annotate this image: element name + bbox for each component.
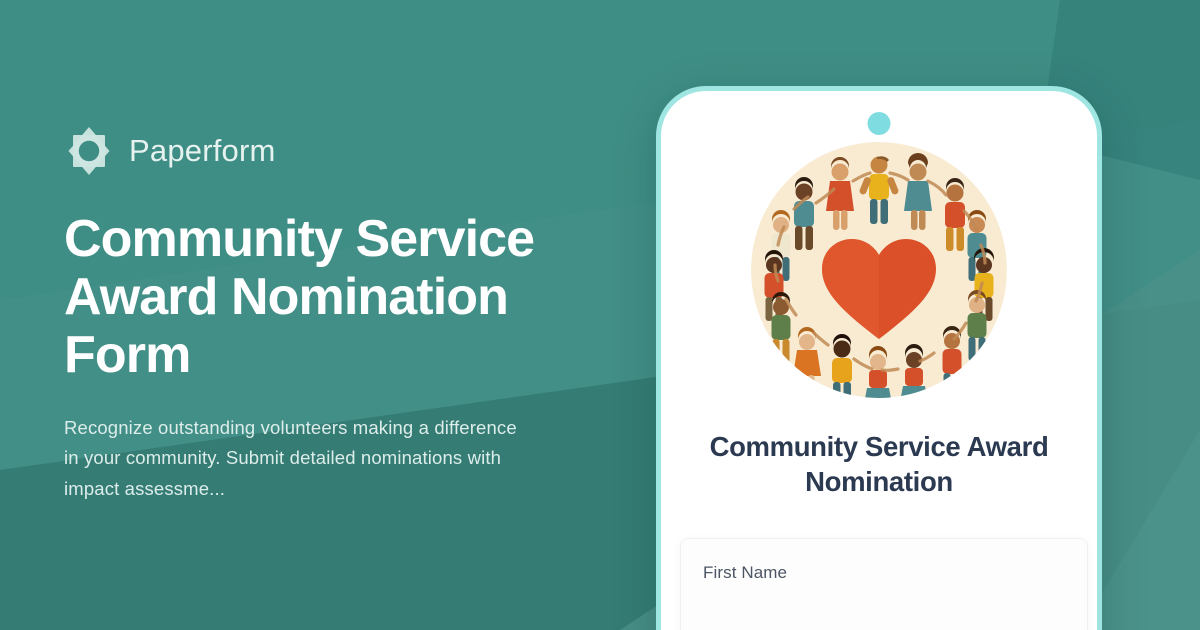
form-heading: Community Service Award Nomination [661,429,1097,499]
brand-name: Paperform [129,135,276,166]
camera-dot-icon [868,112,891,135]
form-field-first-name[interactable]: First Name [681,539,1087,630]
paperform-star-logo-icon [64,126,114,176]
brand-lockup: Paperform [64,126,604,176]
phone-mockup: Community Service Award Nomination First… [656,86,1102,630]
page-title: Community Service Award Nomination Form [64,210,544,385]
hero-content: Paperform Community Service Award Nomina… [64,0,604,630]
form-illustration-wrap [661,141,1097,399]
community-circle-heart-illustration [750,141,1008,399]
hero-description: Recognize outstanding volunteers making … [64,413,534,505]
first-name-label: First Name [703,563,787,583]
